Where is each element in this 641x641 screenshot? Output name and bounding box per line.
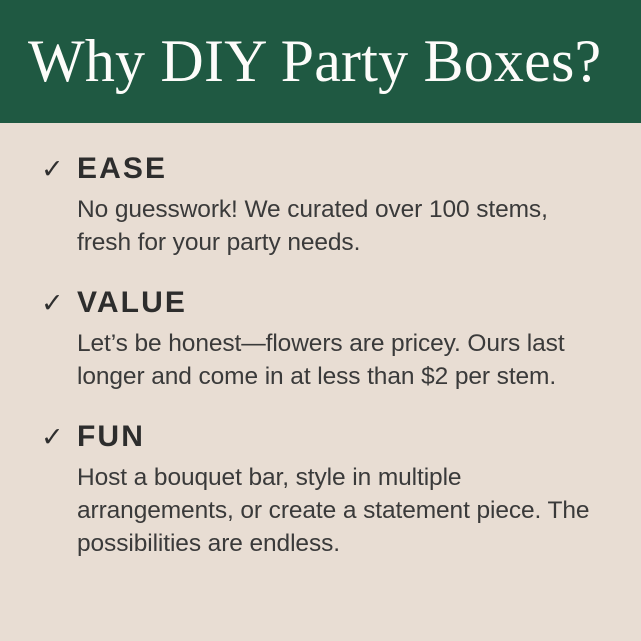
why-diy-party-boxes-card: Why DIY Party Boxes? ✓ EASE No guesswork… (0, 0, 641, 641)
benefits-list: ✓ EASE No guesswork! We curated over 100… (0, 123, 641, 641)
header-banner: Why DIY Party Boxes? (0, 0, 641, 123)
benefit-description: Let’s be honest—flowers are pricey. Ours… (77, 327, 607, 393)
checkmark-icon: ✓ (41, 156, 64, 183)
benefit-item-ease: ✓ EASE No guesswork! We curated over 100… (30, 154, 611, 259)
page-title: Why DIY Party Boxes? (0, 30, 601, 93)
benefit-item-fun: ✓ FUN Host a bouquet bar, style in multi… (30, 422, 611, 560)
checkmark-icon: ✓ (41, 290, 64, 317)
benefit-item-value: ✓ VALUE Let’s be honest—flowers are pric… (30, 288, 611, 393)
benefit-description: Host a bouquet bar, style in multiple ar… (77, 461, 607, 560)
benefit-description: No guesswork! We curated over 100 stems,… (77, 193, 607, 259)
benefit-heading: VALUE (77, 288, 611, 318)
benefit-heading: FUN (77, 422, 611, 452)
benefit-heading: EASE (77, 154, 611, 184)
checkmark-icon: ✓ (41, 424, 64, 451)
